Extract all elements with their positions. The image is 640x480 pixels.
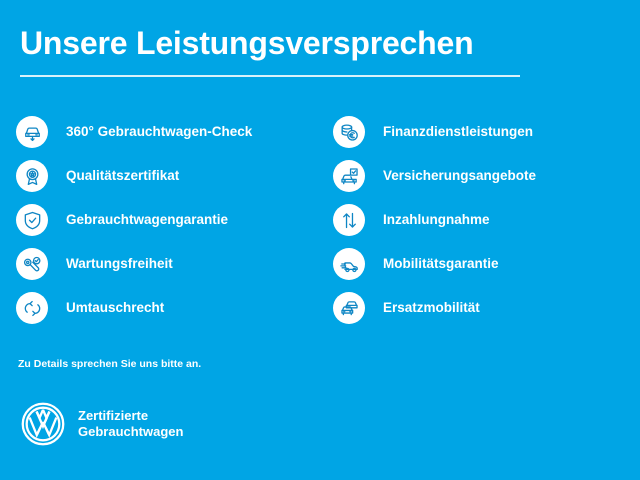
shield-check-icon [16, 204, 48, 236]
promise-item: Qualitätszertifikat [16, 154, 322, 198]
promise-item: Versicherungsangebote [333, 154, 628, 198]
promises-column-left: 360° Gebrauchtwagen-Check Qualitätszerti… [16, 110, 322, 330]
promise-label: Wartungsfreiheit [66, 256, 173, 272]
promise-label: Ersatzmobilität [383, 300, 480, 316]
promise-label: 360° Gebrauchtwagen-Check [66, 124, 252, 140]
van-motion-icon [333, 248, 365, 280]
promise-label: Umtauschrecht [66, 300, 164, 316]
award-medal-icon [16, 160, 48, 192]
car-front-check-icon [16, 116, 48, 148]
promise-label: Versicherungsangebote [383, 168, 536, 184]
promises-slide: Unsere Leistungsversprechen 360° Gebrauc [0, 0, 640, 480]
promise-item: Finanzdienstleistungen [333, 110, 628, 154]
promise-item: 360° Gebrauchtwagen-Check [16, 110, 322, 154]
two-cars-icon [333, 292, 365, 324]
promise-item: Inzahlungnahme [333, 198, 628, 242]
brand-line-2: Gebrauchtwagen [78, 424, 183, 440]
promise-label: Qualitätszertifikat [66, 168, 179, 184]
promise-label: Gebrauchtwagengarantie [66, 212, 228, 228]
brand-text: Zertifizierte Gebrauchtwagen [78, 408, 183, 440]
footnote: Zu Details sprechen Sie uns bitte an. [18, 357, 201, 371]
volkswagen-logo [20, 401, 66, 447]
wrench-check-icon [16, 248, 48, 280]
promise-label: Mobilitätsgarantie [383, 256, 499, 272]
car-document-check-icon [333, 160, 365, 192]
promises-column-right: Finanzdienstleistungen [322, 110, 628, 330]
promise-item: Wartungsfreiheit [16, 242, 322, 286]
promise-label: Inzahlungnahme [383, 212, 490, 228]
promise-label: Finanzdienstleistungen [383, 124, 533, 140]
promise-item: Ersatzmobilität [333, 286, 628, 330]
title-divider [20, 75, 520, 77]
title-block: Unsere Leistungsversprechen [20, 24, 620, 77]
promise-item: Umtauschrecht [16, 286, 322, 330]
arrows-up-down-icon [333, 204, 365, 236]
promises-columns: 360° Gebrauchtwagen-Check Qualitätszerti… [16, 110, 628, 330]
promise-item: Gebrauchtwagengarantie [16, 198, 322, 242]
page-title: Unsere Leistungsversprechen [20, 24, 620, 62]
promise-item: Mobilitätsgarantie [333, 242, 628, 286]
coins-euro-icon [333, 116, 365, 148]
brand-line-1: Zertifizierte [78, 408, 183, 424]
brand-lockup: Zertifizierte Gebrauchtwagen [20, 401, 183, 447]
exchange-arrows-icon [16, 292, 48, 324]
